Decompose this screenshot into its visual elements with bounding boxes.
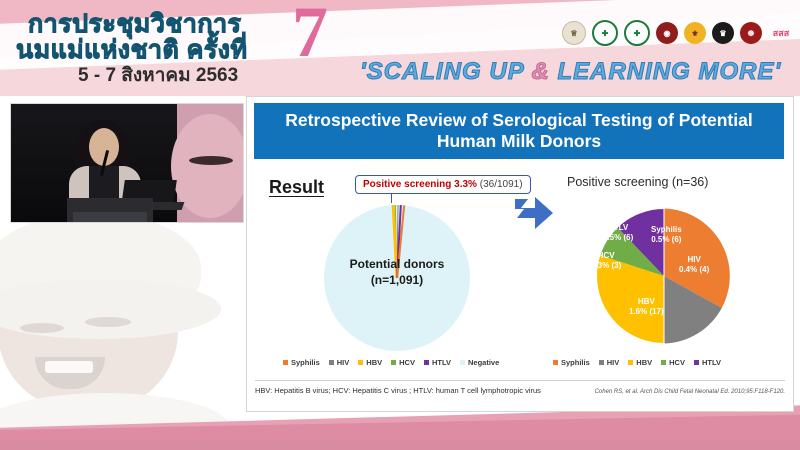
sponsor-logo-row: ♕ ✚ ✚ ◉ ⚜ ♛ ☸ สสส (562, 20, 794, 46)
legend-label: HCV (669, 358, 685, 367)
pie-label-hbv: HBV 1.6% (17) (629, 297, 664, 317)
logo-ministry-health-green-2-icon: ✚ (624, 20, 650, 46)
legend-label: HIV (607, 358, 620, 367)
legend-label: HTLV (432, 358, 451, 367)
tagline-part2: LEARNING MORE' (550, 58, 781, 85)
logo-thai-emblem-gold-icon: ⚜ (684, 22, 706, 44)
logo-university-red-icon: ◉ (656, 22, 678, 44)
legend-item-hcv-right: HCV (661, 358, 685, 367)
legend-item-hiv-right: HIV (599, 358, 620, 367)
legend-item-syphilis-left: Syphilis (283, 358, 320, 367)
pie-label-hcv-name: HCV (591, 251, 621, 261)
legend-item-htlv-left: HTLV (424, 358, 451, 367)
legend-label: Negative (468, 358, 499, 367)
logo-ministry-health-green-1-icon: ✚ (592, 20, 618, 46)
pie-label-hiv-name: HIV (679, 255, 709, 265)
legend-label: HIV (337, 358, 350, 367)
legend-item-hbv-left: HBV (358, 358, 382, 367)
legend-right: Syphilis HIV HBV HCV HTLV (553, 358, 721, 367)
pie-label-htlv: HTLV 0.5% (6) (603, 223, 633, 243)
presentation-slide: Retrospective Review of Serological Test… (246, 96, 794, 412)
legend-label: HBV (636, 358, 652, 367)
pie-label-hbv-name: HBV (629, 297, 664, 307)
pie-chart-positive-screening: HTLV 0.5% (6) Syphilis 0.5% (6) HIV 0.4%… (589, 201, 739, 351)
pie-left-label-line2: (n=1,091) (324, 273, 470, 289)
tagline-ampersand: & (532, 58, 550, 85)
pie-label-hiv-value: 0.4% (4) (679, 265, 709, 275)
slide-footnote-row: HBV: Hepatitis B virus; HCV: Hepatitis C… (255, 380, 785, 395)
legend-label: Syphilis (561, 358, 590, 367)
pie-left-label-line1: Potential donors (324, 257, 470, 273)
conference-edition-number: 7 (292, 0, 328, 68)
legend-label: HCV (399, 358, 415, 367)
slide-screenshot: การประชุมวิชาการ นมแม่แห่งชาติ ครั้งที่ … (0, 0, 800, 450)
legend-item-hcv-left: HCV (391, 358, 415, 367)
baby-watermark-image (0, 205, 250, 430)
legend-item-hiv-left: HIV (329, 358, 350, 367)
pie-label-hcv: HCV 0.3% (3) (591, 251, 621, 271)
legend-label: HTLV (702, 358, 721, 367)
pie-label-syphilis-name: Syphilis (651, 225, 682, 235)
pie-label-hiv: HIV 0.4% (4) (679, 255, 709, 275)
abbreviation-footnote: HBV: Hepatitis B virus; HCV: Hepatitis C… (255, 386, 541, 395)
pie-label-hcv-value: 0.3% (3) (591, 261, 621, 271)
positive-screening-callout: Positive screening 3.3% (36/1091) (355, 175, 531, 194)
logo-royal-seal-icon: ♕ (562, 21, 586, 45)
callout-percentage: Positive screening 3.3% (363, 179, 477, 190)
callout-fraction: (36/1091) (480, 179, 523, 190)
legend-left: Syphilis HIV HBV HCV HTLV Negative (283, 358, 499, 367)
legend-item-hbv-right: HBV (628, 358, 652, 367)
pie-label-htlv-value: 0.5% (6) (603, 233, 633, 243)
pie-label-hbv-value: 1.6% (17) (629, 307, 664, 317)
legend-label: HBV (366, 358, 382, 367)
blue-arrow-icon (515, 195, 555, 231)
pie-left-center-label: Potential donors (n=1,091) (324, 257, 470, 288)
logo-black-circle-emblem-icon: ♛ (712, 22, 734, 44)
pie-label-syphilis-value: 0.5% (6) (651, 235, 682, 245)
legend-item-negative-left: Negative (460, 358, 499, 367)
legend-item-syphilis-right: Syphilis (553, 358, 590, 367)
legend-label: Syphilis (291, 358, 320, 367)
pie-label-htlv-name: HTLV (603, 223, 633, 233)
conference-date: 5 - 7 สิงหาคม 2563 (78, 60, 238, 90)
slide-title: Retrospective Review of Serological Test… (254, 103, 784, 159)
result-heading: Result (269, 177, 324, 198)
citation-reference: Cohen RS, et al. Arch Dis Child Fetal Ne… (595, 389, 785, 395)
callout-stem (391, 193, 392, 203)
legend-item-htlv-right: HTLV (694, 358, 721, 367)
right-chart-heading: Positive screening (n=36) (567, 175, 708, 189)
tagline-part1: 'SCALING UP (360, 58, 532, 85)
speaker-video-feed[interactable] (10, 103, 244, 223)
logo-thaihealth-sss-icon: สสส (768, 22, 794, 44)
pie-label-syphilis: Syphilis 0.5% (6) (651, 225, 682, 245)
conference-tagline: 'SCALING UP & LEARNING MORE' (360, 58, 781, 86)
logo-garuda-red-icon: ☸ (740, 22, 762, 44)
